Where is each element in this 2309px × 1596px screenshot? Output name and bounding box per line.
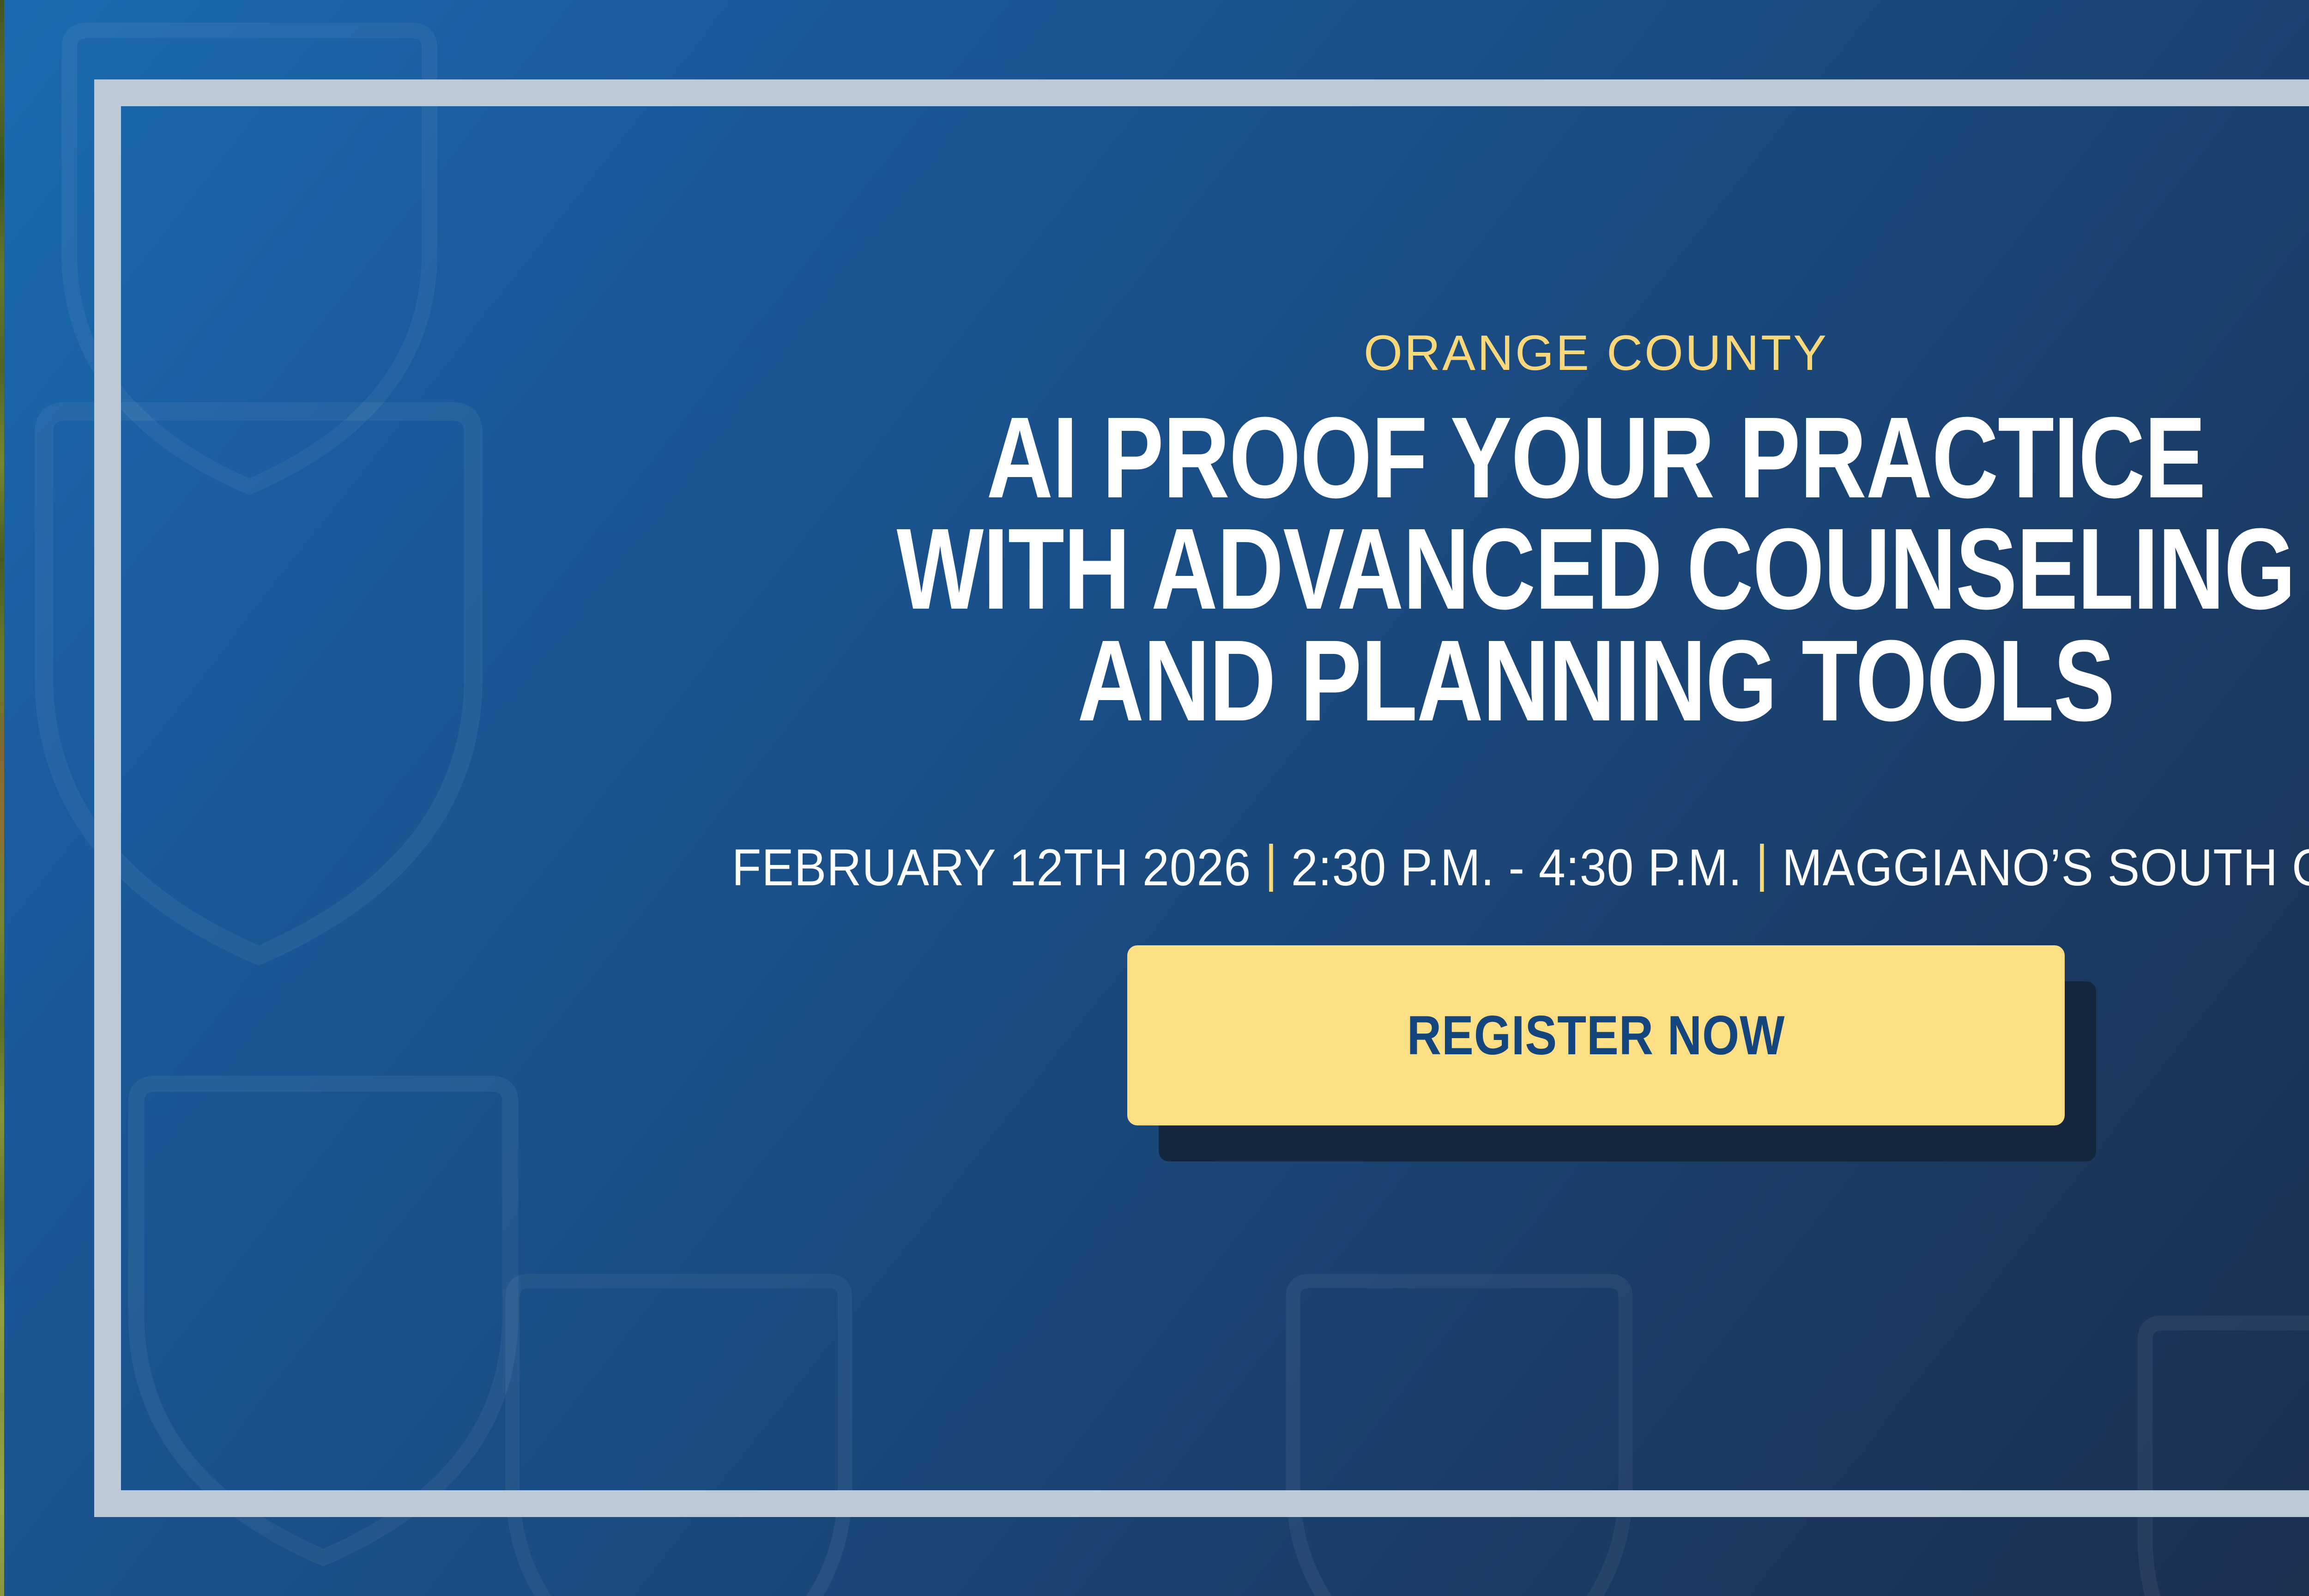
headline-line-1: AI PROOF YOUR PRACTICE — [897, 402, 2295, 513]
event-details-bar: FEBRUARY 12TH 2026 2:30 P.M. - 4:30 P.M.… — [732, 842, 2309, 894]
event-banner: ORANGE COUNTY AI PROOF YOUR PRACTICE WIT… — [0, 0, 2309, 1596]
banner-content: ORANGE COUNTY AI PROOF YOUR PRACTICE WIT… — [0, 0, 2309, 1596]
headline-line-3: AND PLANNING TOOLS — [897, 625, 2295, 736]
headline-line-2: WITH ADVANCED COUNSELING — [897, 513, 2295, 624]
register-cta-container: REGISTER NOW — [1127, 945, 2065, 1125]
register-now-button[interactable]: REGISTER NOW — [1127, 945, 2065, 1125]
register-button-label: REGISTER NOW — [1407, 1004, 1785, 1067]
page-title: AI PROOF YOUR PRACTICE WITH ADVANCED COU… — [897, 402, 2295, 736]
event-date: FEBRUARY 12TH 2026 — [732, 842, 1251, 894]
event-venue: MAGGIANO’S SOUTH COAST — [1782, 842, 2309, 894]
eyebrow-location-label: ORANGE COUNTY — [1364, 328, 1828, 378]
event-time: 2:30 P.M. - 4:30 P.M. — [1291, 842, 1742, 894]
detail-separator-icon — [1269, 844, 1273, 892]
detail-separator-icon — [1760, 844, 1764, 892]
